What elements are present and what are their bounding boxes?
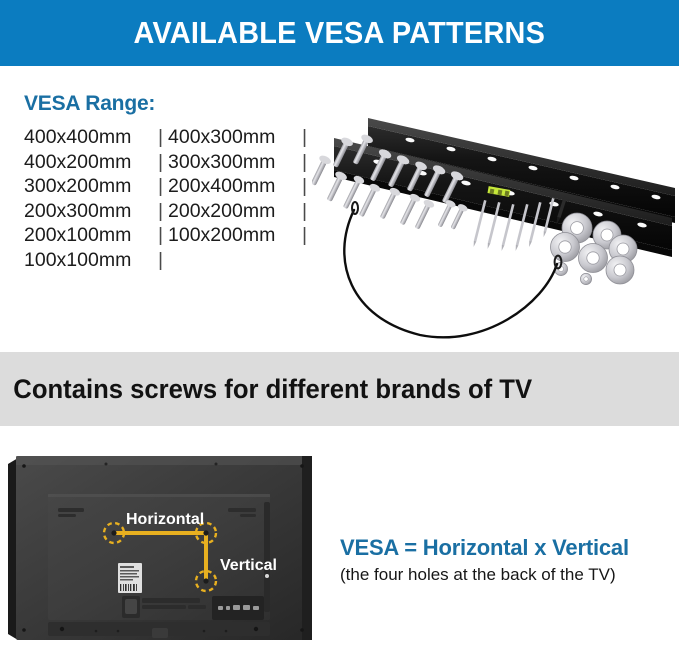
tv-back-photo: Horizontal Vertical (6, 450, 336, 646)
vesa-separator: | (158, 125, 168, 150)
vesa-pattern-value: 200x200mm (168, 199, 302, 224)
vesa-pattern-infographic: AVAILABLE VESA PATTERNS VESA Range: 400x… (0, 0, 679, 650)
vesa-separator: | (158, 199, 168, 224)
vesa-formula-block: VESA = Horizontal x Vertical (the four h… (340, 535, 679, 585)
vesa-range-row: 200x100mm | 100x200mm | (24, 223, 314, 248)
screws-banner-text: Contains screws for different brands of … (0, 374, 532, 405)
hardware-kit-photo (312, 92, 679, 344)
vesa-pattern-value: 300x300mm (168, 150, 302, 175)
vesa-pattern-value: 400x300mm (168, 125, 302, 150)
tv-back-illustration: Horizontal Vertical (6, 450, 336, 646)
vesa-separator: | (158, 248, 168, 273)
vesa-separator: | (158, 174, 168, 199)
vesa-separator: | (302, 125, 312, 150)
vesa-pattern-value: 400x400mm (24, 125, 158, 150)
vesa-range-heading: VESA Range: (24, 92, 314, 116)
vesa-pattern-value: 100x200mm (168, 223, 302, 248)
vesa-range-row: 400x200mm | 300x300mm | (24, 150, 314, 175)
screws-banner: Contains screws for different brands of … (0, 352, 679, 426)
vesa-formula-text: VESA = Horizontal x Vertical (340, 535, 679, 561)
vesa-range-block: VESA Range: 400x400mm | 400x300mm | 400x… (24, 92, 314, 272)
vesa-range-row: 400x400mm | 400x300mm | (24, 125, 314, 150)
vesa-separator: | (302, 150, 312, 175)
vesa-range-row: 300x200mm | 200x400mm | (24, 174, 314, 199)
vesa-pattern-value: 100x100mm (24, 248, 158, 273)
vesa-separator: | (158, 150, 168, 175)
vesa-pattern-value: 400x200mm (24, 150, 158, 175)
page-title: AVAILABLE VESA PATTERNS (134, 15, 546, 51)
vesa-pattern-value: 200x300mm (24, 199, 158, 224)
vesa-formula-note: (the four holes at the back of the TV) (340, 565, 679, 585)
vesa-range-row: 200x300mm | 200x200mm | (24, 199, 314, 224)
vesa-separator: | (158, 223, 168, 248)
vesa-separator: | (302, 174, 312, 199)
vertical-label: Vertical (220, 557, 277, 574)
vesa-range-list: 400x400mm | 400x300mm | 400x200mm | 300x… (24, 125, 314, 272)
vesa-separator: | (302, 199, 312, 224)
vesa-pattern-value: 200x400mm (168, 174, 302, 199)
vesa-separator: | (302, 223, 312, 248)
vesa-range-row: 100x100mm | (24, 248, 314, 273)
vesa-pattern-value: 200x100mm (24, 223, 158, 248)
header-banner: AVAILABLE VESA PATTERNS (0, 0, 679, 66)
hardware-kit-illustration (312, 92, 679, 344)
horizontal-label: Horizontal (126, 511, 204, 528)
vesa-pattern-value: 300x200mm (24, 174, 158, 199)
